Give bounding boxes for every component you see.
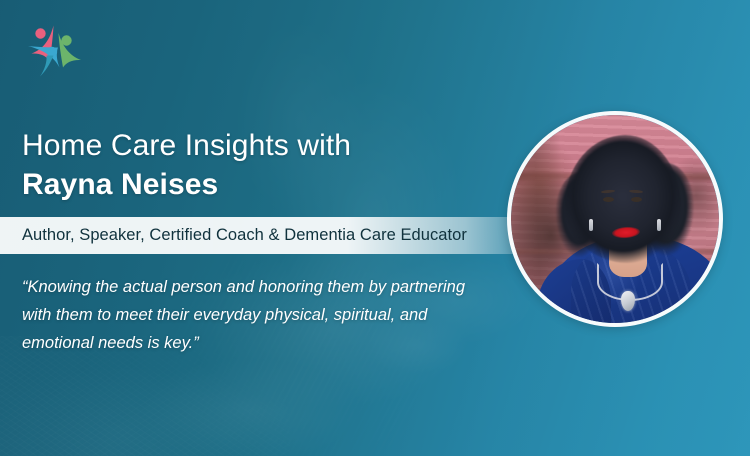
logo-figure-green — [59, 33, 82, 68]
portrait-avatar — [507, 111, 723, 327]
portrait-earring-right — [657, 219, 661, 231]
portrait-eye-right — [631, 197, 642, 202]
quote-block: “Knowing the actual person and honoring … — [22, 273, 492, 357]
portrait-earring-left — [589, 219, 593, 231]
quote-line-1: “Knowing the actual person and honoring … — [22, 273, 492, 301]
portrait-hair — [565, 135, 681, 263]
quote-line-3: emotional needs is key.” — [22, 329, 492, 357]
quote-line-2: with them to meet their everyday physica… — [22, 301, 492, 329]
page-title: Home Care Insights with Rayna Neises — [22, 128, 492, 203]
subtitle-band: Author, Speaker, Certified Coach & Demen… — [0, 217, 560, 254]
title-line-2: Rayna Neises — [22, 167, 492, 202]
portrait-eye-left — [603, 197, 614, 202]
three-figures-logo[interactable] — [20, 22, 92, 80]
subtitle-text: Author, Speaker, Certified Coach & Demen… — [22, 226, 467, 245]
logo-figure-blue — [28, 46, 60, 77]
home-care-insights-banner: Home Care Insights with Rayna Neises Aut… — [0, 0, 750, 456]
title-line-1: Home Care Insights with — [22, 128, 492, 163]
portrait-photo — [511, 115, 719, 323]
